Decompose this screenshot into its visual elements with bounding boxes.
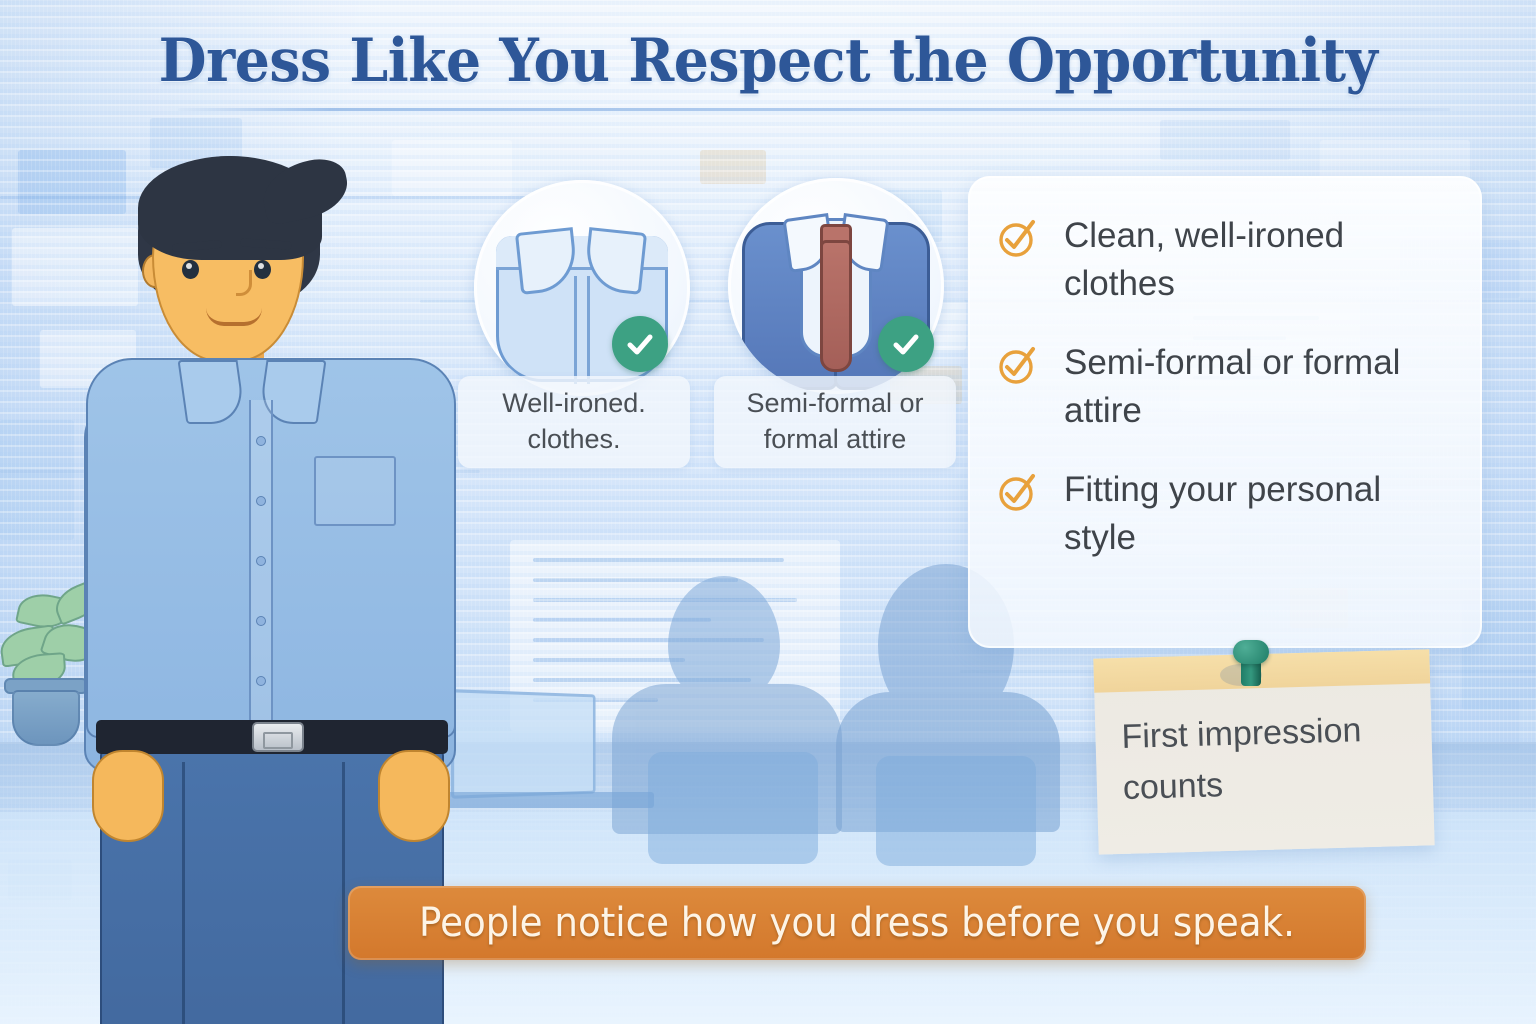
caption-text: Well-ironed. clothes. — [468, 386, 680, 458]
checklist-item-3: Fitting your personal style — [996, 466, 1454, 561]
checklist-panel: Clean, well-ironed clothes Semi-formal o… — [968, 176, 1482, 648]
checklist-item-label: Semi-formal or formal attire — [1064, 339, 1454, 434]
pushpin-icon — [1228, 640, 1274, 692]
chair-back-2 — [876, 756, 1036, 866]
orange-circle-check-icon — [996, 343, 1040, 387]
checklist-item-2: Semi-formal or formal attire — [996, 339, 1454, 434]
page-title: Dress Like You Respect the Opportunity — [61, 26, 1474, 96]
infographic-canvas: Dress Like You Respect the Opportunity — [0, 0, 1536, 1024]
banner-text: People notice how you dress before you s… — [419, 900, 1295, 946]
orange-circle-check-icon — [996, 216, 1040, 260]
laptop-base — [430, 792, 654, 808]
caption-text: Semi-formal or formal attire — [724, 386, 946, 458]
orange-circle-check-icon — [996, 470, 1040, 514]
checklist-item-label: Clean, well-ironed clothes — [1064, 212, 1454, 307]
chair-back-1 — [648, 752, 818, 864]
bottom-banner: People notice how you dress before you s… — [348, 886, 1366, 960]
laptop-screen — [451, 689, 596, 799]
icon-card-caption-1: Well-ironed. clothes. — [458, 376, 690, 468]
checklist-item-1: Clean, well-ironed clothes — [996, 212, 1454, 307]
sticky-note-text: First impression counts — [1121, 704, 1416, 814]
green-check-badge-2 — [878, 316, 934, 372]
green-check-badge-1 — [612, 316, 668, 372]
title-underline — [178, 108, 1450, 111]
checklist-item-label: Fitting your personal style — [1064, 466, 1454, 561]
icon-card-caption-2: Semi-formal or formal attire — [714, 376, 956, 468]
